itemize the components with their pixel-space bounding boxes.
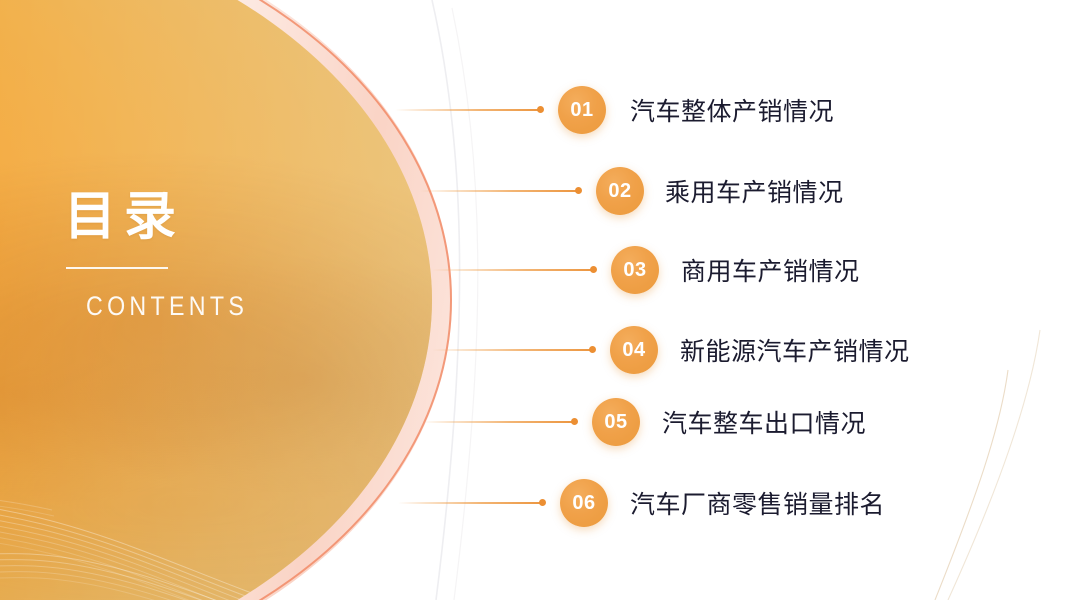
page-title: 目录	[64, 190, 364, 245]
item-number-badge[interactable]: 01	[558, 86, 606, 134]
item-label[interactable]: 汽车厂商零售销量排名	[630, 477, 885, 529]
item-number: 05	[604, 411, 627, 434]
list-item[interactable]: 01 汽车整体产销情况	[0, 84, 900, 136]
item-label[interactable]: 汽车整体产销情况	[630, 84, 834, 136]
list-item[interactable]: 04 新能源汽车产销情况	[0, 324, 940, 376]
connector-dot	[589, 346, 596, 353]
item-label[interactable]: 新能源汽车产销情况	[680, 324, 910, 376]
item-number-badge[interactable]: 06	[560, 479, 608, 527]
item-label[interactable]: 汽车整车出口情况	[662, 396, 866, 448]
connector-line	[420, 190, 578, 193]
item-number-badge[interactable]: 03	[611, 246, 659, 294]
list-item[interactable]: 05 汽车整车出口情况	[0, 396, 900, 448]
connector-dot	[537, 106, 544, 113]
connector-line	[432, 349, 592, 352]
item-number-badge[interactable]: 05	[592, 398, 640, 446]
title-divider	[66, 267, 168, 269]
connector-line	[422, 421, 574, 424]
item-label[interactable]: 商用车产销情况	[681, 244, 860, 296]
connector-line	[398, 502, 542, 505]
connector-line	[395, 109, 540, 112]
slide-root: 目录 CONTENTS 01 汽车整体产销情况 02 乘用车产销情况	[0, 0, 1067, 600]
page-subtitle: CONTENTS	[86, 291, 325, 322]
connector-line	[432, 269, 593, 272]
item-number: 03	[623, 259, 646, 282]
item-number: 02	[608, 180, 631, 203]
list-item[interactable]: 06 汽车厂商零售销量排名	[0, 477, 960, 529]
title-block: 目录 CONTENTS	[64, 190, 364, 322]
item-label[interactable]: 乘用车产销情况	[665, 165, 844, 217]
item-number-badge[interactable]: 04	[610, 326, 658, 374]
connector-dot	[571, 418, 578, 425]
item-number: 04	[622, 339, 645, 362]
item-number-badge[interactable]: 02	[596, 167, 644, 215]
item-number: 01	[570, 99, 593, 122]
connector-dot	[539, 499, 546, 506]
connector-dot	[590, 266, 597, 273]
connector-dot	[575, 187, 582, 194]
item-number: 06	[572, 492, 595, 515]
